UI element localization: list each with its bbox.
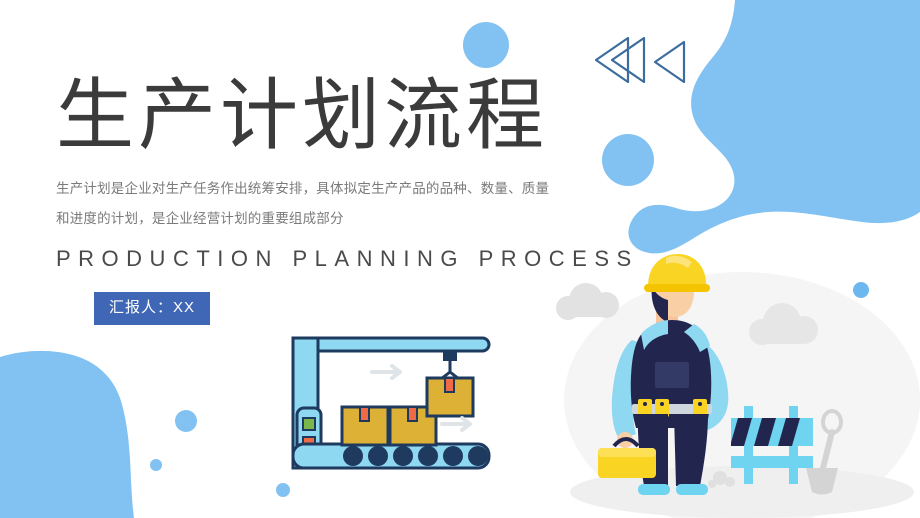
cloud-right-icon [749,303,818,345]
subtitle-paragraph: 生产计划是企业对生产任务作出统筹安排，具体拟定生产产品的品种、数量、质量和进度的… [56,174,551,234]
worker-shoe-right [676,484,708,495]
presenter-badge: 汇报人：XX [94,292,210,325]
page-title: 生产计划流程 [56,72,616,160]
hard-hat-icon [644,254,710,292]
road-barrier-icon [730,406,813,484]
english-title: PRODUCTION PLANNING PROCESS [56,246,616,272]
worker-leg-right [674,414,708,486]
title-text-block: 生产计划流程 生产计划是企业对生产任务作出统筹安排，具体拟定生产产品的品种、数量… [56,72,616,325]
title-slide: 生产计划流程 生产计划是企业对生产任务作出统筹安排，具体拟定生产产品的品种、数量… [0,0,920,518]
worker-chest-pocket [655,362,689,388]
worker-shoe-left [638,484,670,495]
rubble-icon [708,471,735,488]
worker-character [598,254,728,495]
